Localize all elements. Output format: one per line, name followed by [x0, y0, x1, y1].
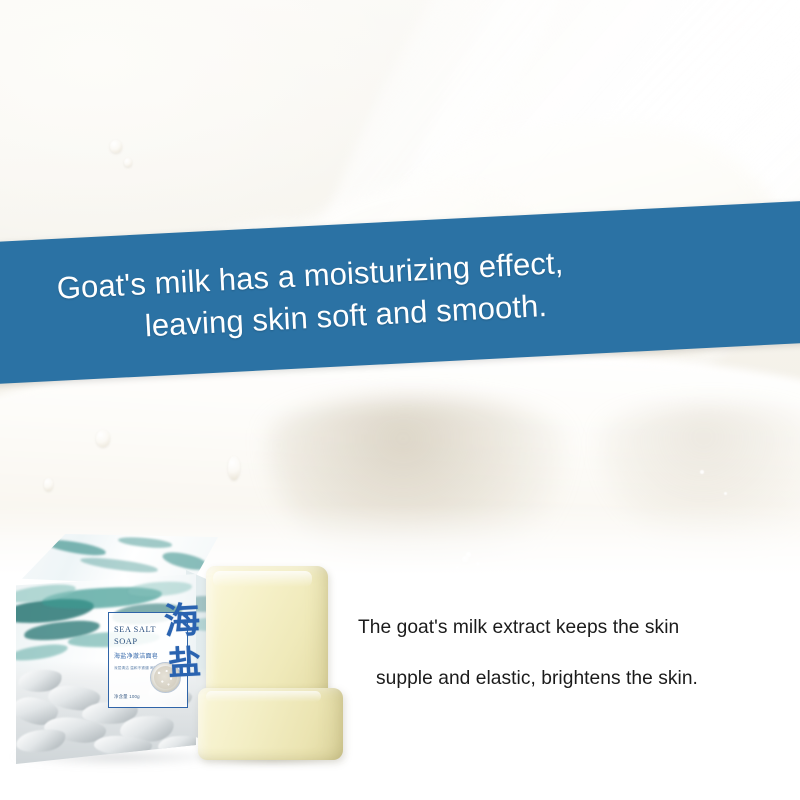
box-wave-shape	[16, 642, 69, 663]
milk-droplet	[228, 456, 240, 480]
foam-fleck	[724, 492, 727, 495]
body-copy-line-2: supple and elastic, brightens the skin.	[358, 669, 790, 688]
foam-fleck	[700, 470, 704, 474]
body-copy-block: The goat's milk extract keeps the skin s…	[358, 618, 790, 688]
soap-bar-upright	[206, 566, 328, 698]
box-wave-shape	[44, 537, 107, 558]
box-wave-shape	[118, 536, 173, 550]
box-wave-shape	[128, 580, 193, 597]
product-marketing-image: Goat's milk has a moisturizing effect, l…	[0, 0, 800, 800]
milk-droplet	[44, 478, 53, 491]
label-brand-line2: SOAP	[114, 636, 156, 648]
label-net-weight: 净含量 100g	[114, 694, 140, 700]
soap-bar-lying	[198, 688, 343, 760]
milk-droplet	[124, 158, 132, 167]
milk-droplet	[96, 430, 110, 447]
box-wave-shape	[80, 555, 159, 574]
product-box: 海 盐 SEA SALT SOAP 海盐净澈洁面皂 深层清洁 温和不紧绷 呵护肌…	[16, 534, 228, 766]
label-brand-en: SEA SALT SOAP	[114, 624, 156, 648]
milk-droplet	[110, 140, 122, 153]
brush-character-hai: 海	[163, 603, 201, 641]
brush-character-yan: 盐	[167, 645, 202, 680]
box-wave-shape	[161, 549, 209, 572]
label-brand-line1: SEA SALT	[114, 624, 156, 636]
label-brand-cn: 海盐净澈洁面皂	[114, 653, 158, 662]
body-copy-line-1: The goat's milk extract keeps the skin	[358, 618, 790, 637]
